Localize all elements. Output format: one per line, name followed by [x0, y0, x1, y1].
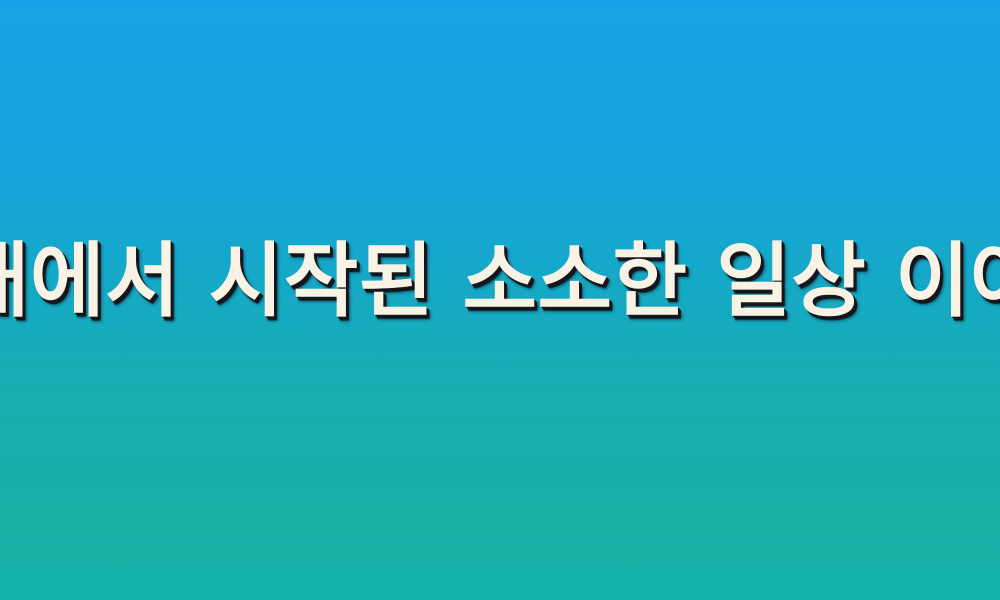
banner-headline: 싱크대에서 시작된 소소한 일상 이야기들: [0, 242, 1000, 323]
banner-canvas: 싱크대에서 시작된 소소한 일상 이야기들: [0, 0, 1000, 600]
headline-container: 싱크대에서 시작된 소소한 일상 이야기들: [0, 0, 1000, 600]
